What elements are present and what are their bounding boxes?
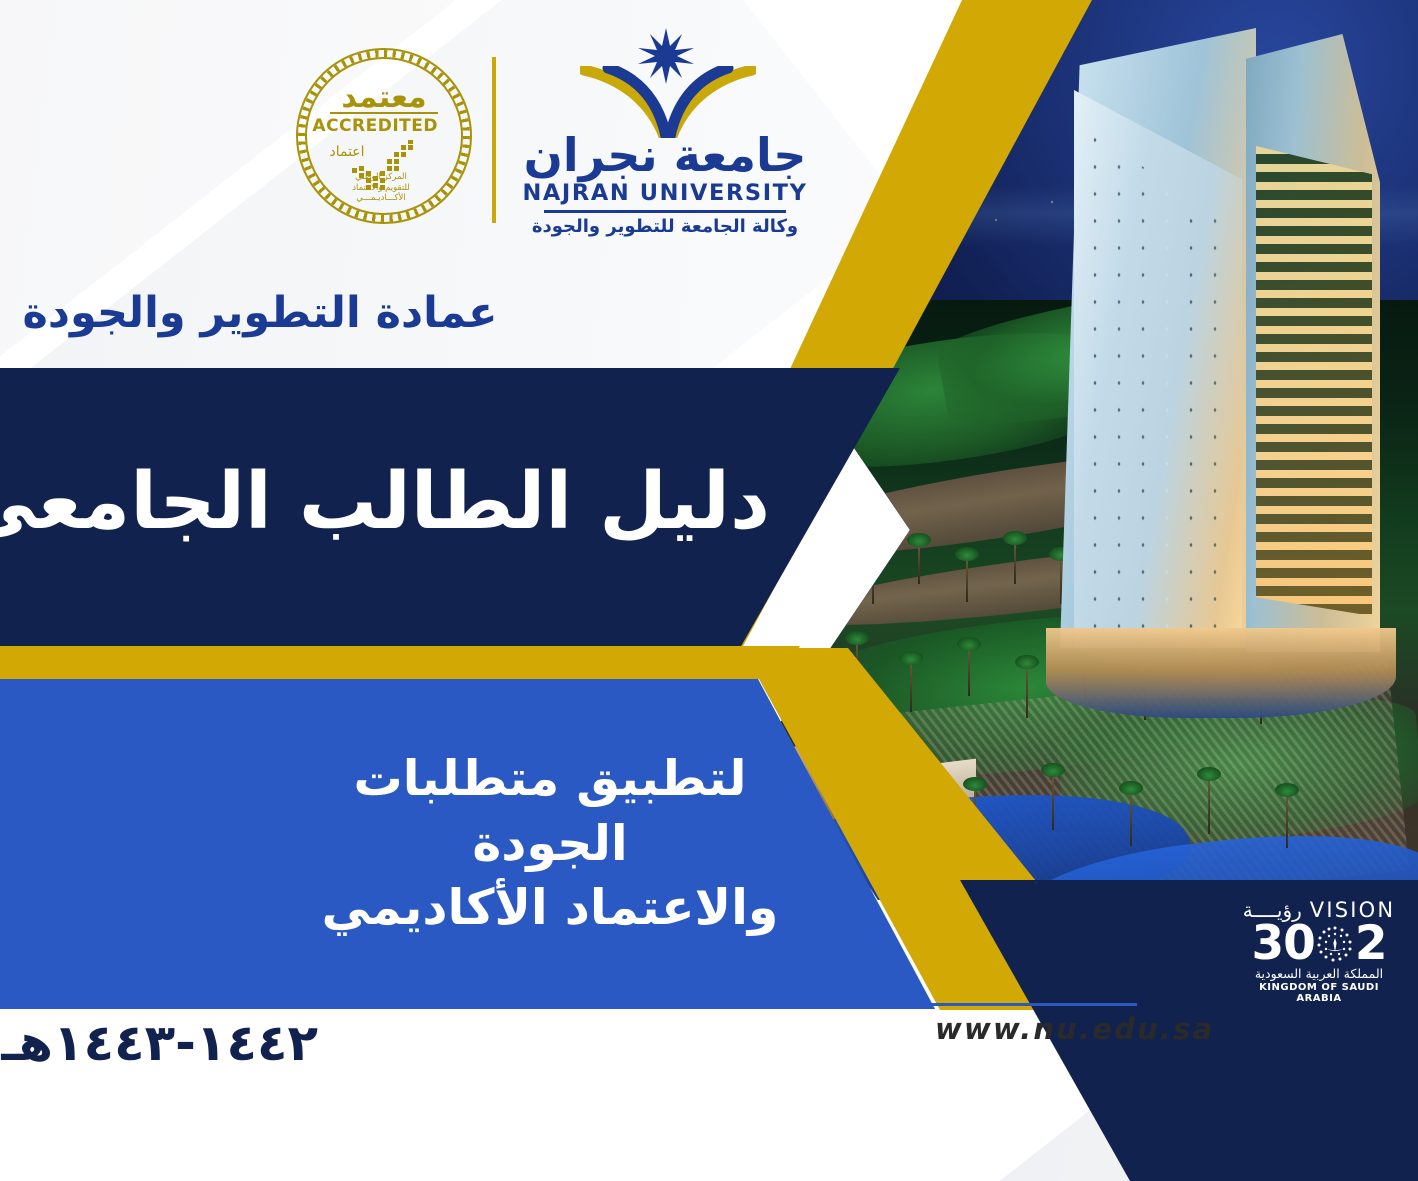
deanship-heading: عمادة التطوير والجودة [0, 288, 520, 338]
badge-body-arabic: اعتماد [296, 144, 472, 160]
vision-kingdom-english: KINGDOM OF SAUDI ARABIA [1236, 982, 1402, 1004]
badge-center-line-3: الأكـــاديـمـــي [356, 193, 405, 203]
vision-kingdom-arabic: المملكة العربية السعودية [1236, 966, 1402, 981]
cover-page: دليل الطالب الجامعي لتطبيق متطلبات الجود… [0, 0, 1418, 1181]
badge-center-name: المركز الوطني للتقويم والاعتماد الأكـــا… [296, 172, 472, 204]
header-logos: معتمد ACCREDITED اعتماد [0, 0, 900, 270]
subtitle-line-2: والاعتماد الأكاديمي [322, 879, 779, 936]
subtitle-line-1: لتطبيق متطلبات الجودة [353, 750, 746, 872]
vision-number-right: 30 [1251, 920, 1314, 967]
university-name-arabic: جامعة نجران [520, 132, 810, 178]
badge-english-label: ACCREDITED [330, 112, 438, 136]
gold-divider-strip [0, 646, 800, 679]
university-name-english: NAJRAN UNIVERSITY [520, 180, 810, 206]
accreditation-badge: معتمد ACCREDITED اعتماد [296, 48, 472, 224]
badge-center-line-1: المركز الوطني [355, 172, 407, 182]
page-title: دليل الطالب الجامعي [0, 460, 900, 556]
najran-university-logo: جامعة نجران NAJRAN UNIVERSITY وكالة الجا… [520, 22, 810, 254]
university-agency-arabic: وكالة الجامعة للتطوير والجودة [520, 216, 810, 237]
website-url-block: www.nu.edu.sa [905, 1003, 1245, 1051]
url-top-rule [905, 1003, 1137, 1006]
vision-number-left: 2 [1355, 920, 1387, 967]
logo-underline [544, 210, 786, 213]
vision-number-row: 2 30 [1236, 920, 1402, 967]
subtitle-text: لتطبيق متطلبات الجودة والاعتماد الأكاديم… [100, 747, 860, 941]
hijri-year: ١٤٤٢-١٤٤٣هـ [18, 1014, 318, 1072]
vision-2030-logo: VISION رؤيــــة 2 [1236, 898, 1402, 994]
header-vertical-divider [492, 57, 496, 223]
saudi-emblem-dots-icon [1316, 925, 1354, 963]
badge-center-line-2: للتقويم والاعتماد [352, 183, 410, 193]
website-url[interactable]: www.nu.edu.sa [935, 1012, 1214, 1046]
badge-arabic-label: معتمد [296, 80, 472, 115]
